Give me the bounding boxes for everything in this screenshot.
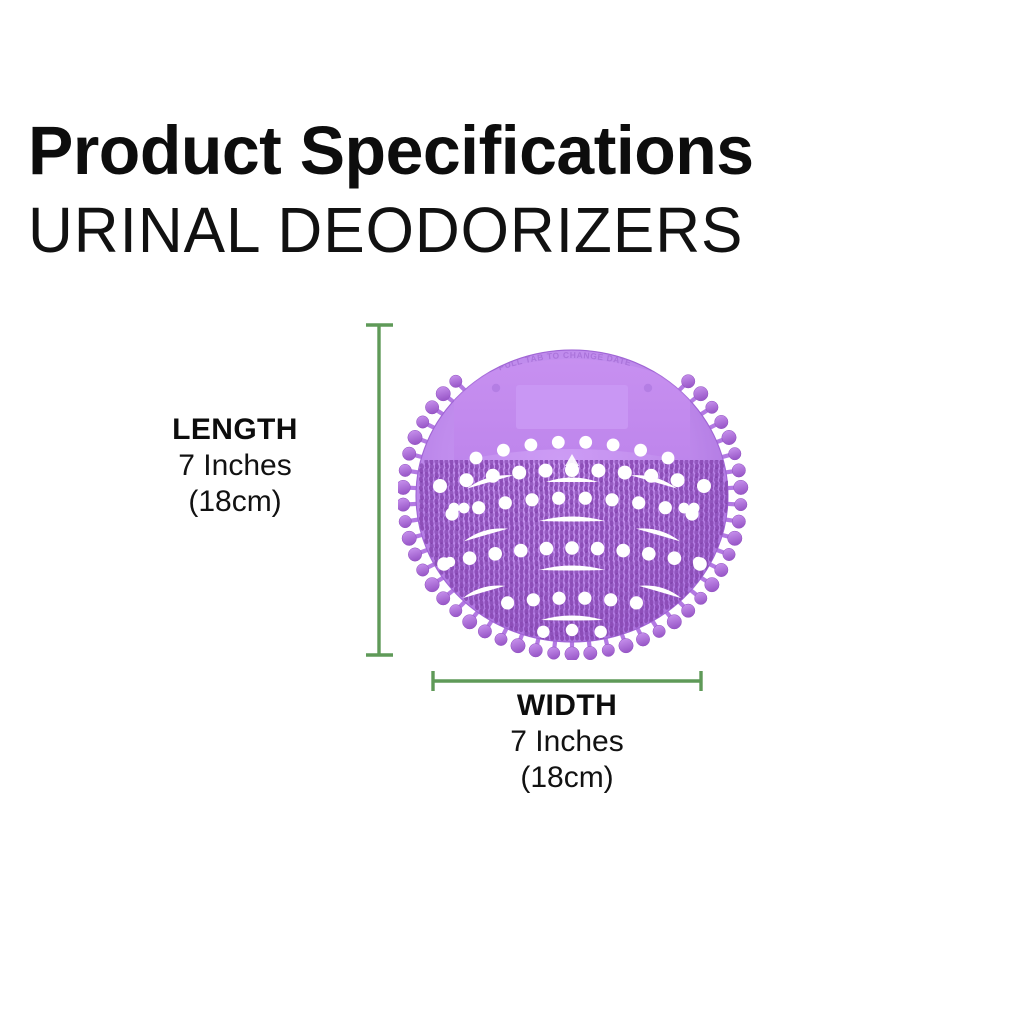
heading-block: Product Specifications URINAL DEODORIZER… [28, 112, 998, 266]
page-title: Product Specifications [28, 112, 983, 190]
width-label-group: WIDTH 7 Inches (18cm) [432, 688, 702, 795]
tab-hole-left [492, 384, 500, 392]
width-label-title: WIDTH [432, 688, 702, 724]
tab-hole-right [644, 384, 652, 392]
product-image: PULL TAB TO CHANGE DATE EDGE EDGE [398, 330, 754, 660]
width-label-value: 7 Inches [432, 724, 702, 760]
length-label-group: LENGTH 7 Inches (18cm) [120, 412, 350, 519]
length-dimension-line [362, 318, 396, 662]
width-label-metric: (18cm) [432, 760, 702, 795]
length-line-graphic [366, 325, 393, 655]
length-label-value: 7 Inches [120, 448, 350, 484]
length-label-metric: (18cm) [120, 484, 350, 519]
page-subtitle: URINAL DEODORIZERS [28, 194, 969, 266]
length-label-title: LENGTH [120, 412, 350, 448]
tab-window [516, 385, 628, 429]
